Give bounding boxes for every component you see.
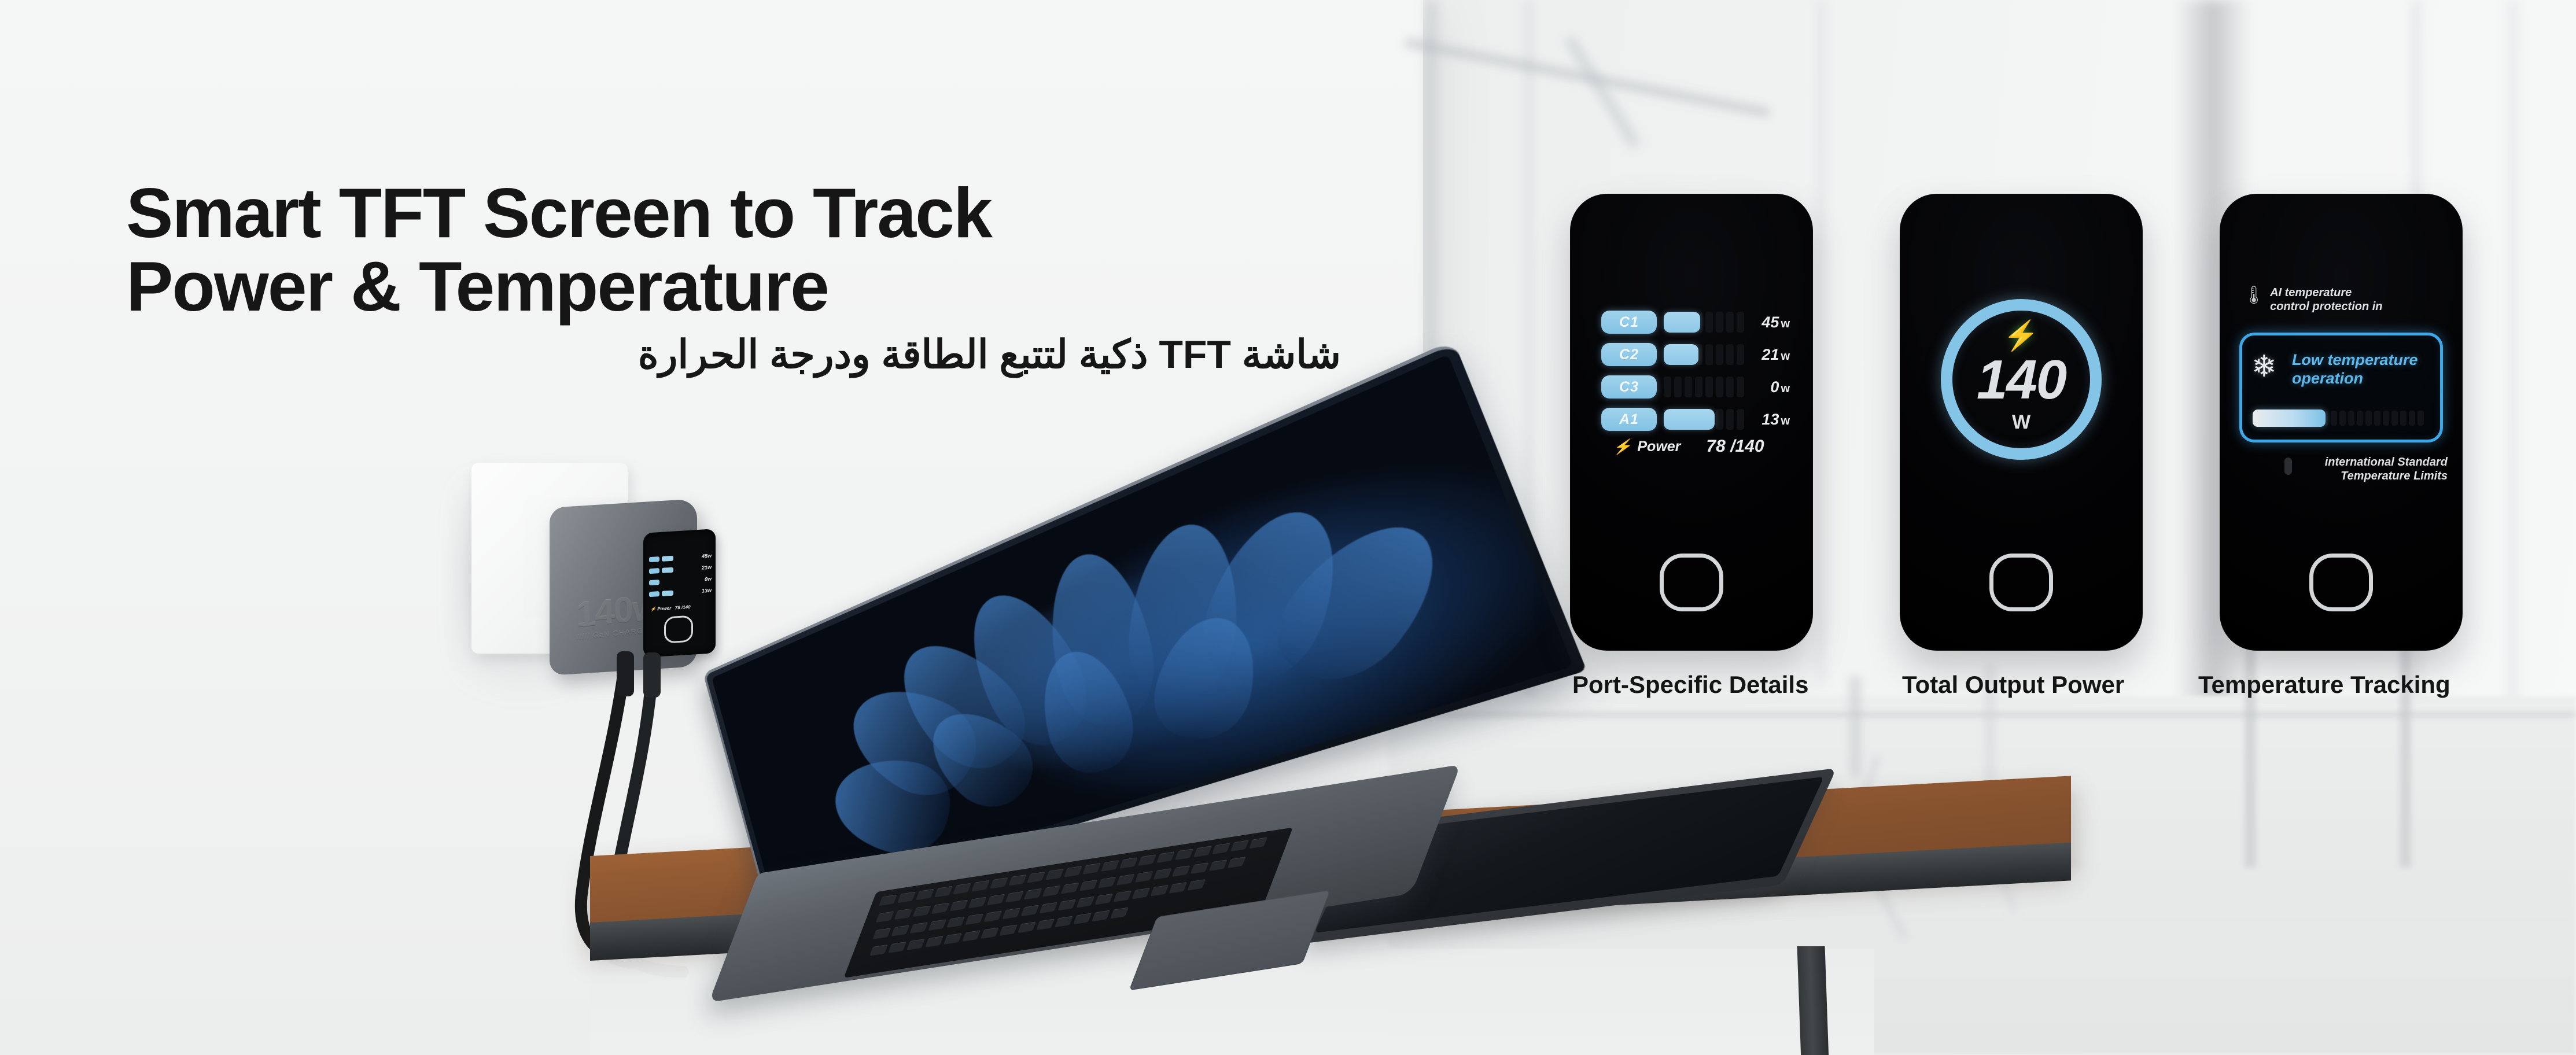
window-mullion [1815,0,1827,683]
port-list: C1 45w C2 [1601,306,1786,436]
headline-line-1: Smart TFT Screen to Track [126,176,1341,250]
lightning-bolt-icon: ⚡ [1613,438,1631,456]
power-value: 78 /140 [1706,437,1764,456]
port-badge: A1 [1601,408,1657,431]
standard-limits-marker [2284,458,2292,475]
background-desk [2245,625,2418,879]
card-total-output-power: ⚡ 140 W [1900,194,2143,651]
desk-leg [1797,946,1829,1055]
ring-power-value: 140 [1977,352,2066,408]
port-badge: C1 [1601,311,1657,334]
card-temperature-tracking: 🌡 AI temperature control protection in ❄… [2220,194,2463,651]
device-home-button[interactable] [1989,554,2053,611]
port-watt-value: 13w [1760,411,1790,429]
port-badge: C2 [1601,343,1657,366]
device-home-button[interactable] [2309,554,2373,611]
headline-line-2: Power & Temperature [126,250,1341,323]
power-label: Power [1637,438,1681,455]
port-watt-value: 45w [1760,313,1790,331]
caption-port-specific-details: Port-Specific Details [1572,671,1808,699]
ai-temperature-text: AI temperature control protection in [2270,286,2382,313]
charger-screen-button [664,615,693,644]
window-mullion [2505,0,2522,769]
port-watt-value: 0w [1768,378,1790,396]
caption-temperature-tracking: Temperature Tracking [2198,671,2450,699]
device-home-button[interactable] [1660,554,1723,611]
temperature-bar [2253,410,2433,427]
total-power-row: ⚡ Power 78 /140 [1613,437,1764,456]
port-badge: C3 [1601,375,1657,399]
standard-limits-text: international Standard Temperature Limit… [2325,455,2448,483]
low-temperature-status: Low temperature operation [2292,351,2418,388]
port-gauge [1664,375,1750,399]
low-temperature-panel: ❄ Low temperature operation [2239,333,2443,442]
temperature-bar-fill [2253,410,2326,427]
lightning-bolt-icon: ⚡ [2003,321,2039,350]
headline-arabic-subtitle: شاشة TFT ذكية لتتبع الطاقة ودرجة الحرارة [126,330,1341,379]
laptop [758,654,1504,1001]
port-row: C2 21w [1601,338,1786,371]
port-row: C3 0w [1601,371,1786,403]
port-gauge [1664,343,1750,366]
snowflake-icon: ❄ [2251,352,2277,382]
headline-block: Smart TFT Screen to Track Power & Temper… [126,176,1341,379]
card-port-specific-details: C1 45w C2 [1570,194,1813,651]
port-row: C1 45w [1601,306,1786,338]
ring-power-unit: W [2012,412,2030,432]
ai-temperature-header: 🌡 AI temperature control protection in [2243,286,2383,313]
power-ring-gauge: ⚡ 140 W [1941,299,2102,460]
port-watt-value: 21w [1760,346,1790,364]
charger-tft-screen: 45w 21w 0w 13w ⚡ Power 78 /140 [643,529,716,658]
port-gauge [1664,311,1750,334]
thermometer-icon: 🌡 [2243,287,2265,304]
port-gauge [1664,408,1750,431]
caption-total-output-power: Total Output Power [1902,671,2124,699]
port-row: A1 13w [1601,403,1786,436]
promo-banner: 140w ///// GaN CHARGER ///// 45w 21w 0w … [0,0,2576,1055]
